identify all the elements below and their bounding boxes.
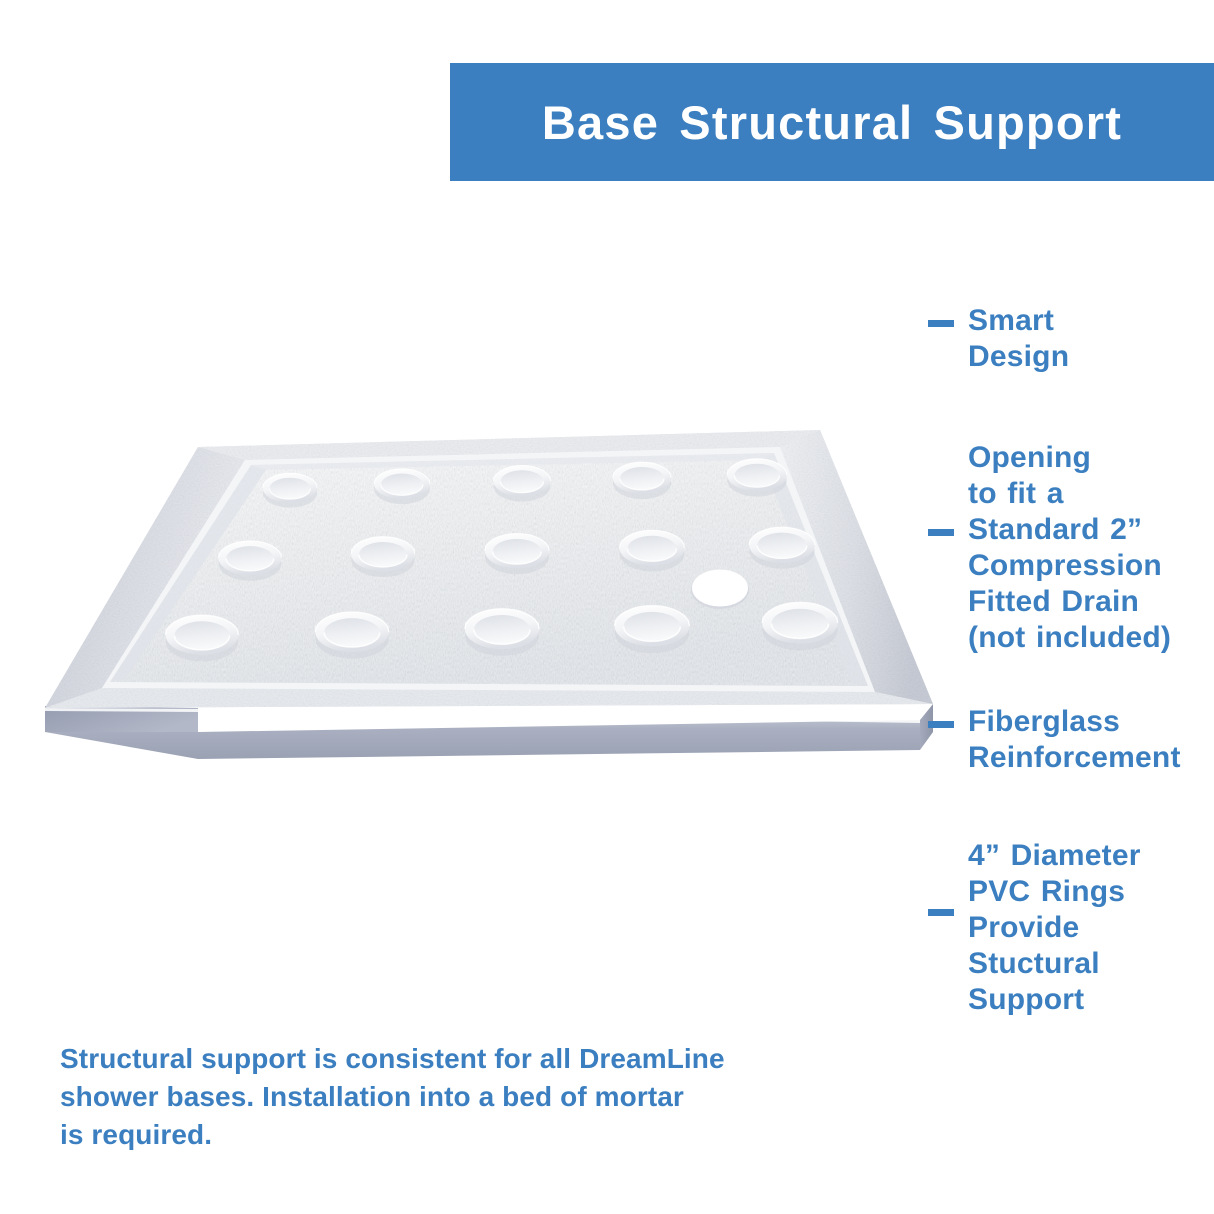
pvc-ring bbox=[615, 606, 690, 653]
drain-opening bbox=[691, 570, 749, 610]
pvc-ring bbox=[374, 469, 429, 504]
pvc-ring bbox=[219, 541, 282, 581]
pvc-ring bbox=[166, 615, 239, 661]
callout-pvc-rings: 4” Diameter PVC Rings Provide Stuctural … bbox=[928, 838, 1141, 1018]
dash-marker-icon bbox=[928, 721, 954, 728]
pvc-ring bbox=[465, 609, 539, 656]
page-title: Base Structural Support bbox=[542, 95, 1122, 150]
callout-drain-opening-label: Opening to fit a Standard 2” Compression… bbox=[968, 440, 1171, 656]
pvc-ring bbox=[613, 462, 671, 499]
pvc-ring bbox=[494, 466, 551, 502]
callout-fiberglass-reinforcement: Fiberglass Reinforcement bbox=[928, 704, 1181, 776]
shower-base-illustration bbox=[30, 420, 935, 810]
poster-root: Base Structural Support bbox=[0, 0, 1214, 1214]
title-banner: Base Structural Support bbox=[450, 63, 1214, 181]
callout-fiberglass-reinforcement-label: Fiberglass Reinforcement bbox=[968, 704, 1181, 776]
pvc-ring bbox=[762, 602, 837, 650]
base-side-walls bbox=[45, 704, 933, 759]
dash-marker-icon bbox=[928, 320, 954, 327]
callout-pvc-rings-label: 4” Diameter PVC Rings Provide Stuctural … bbox=[968, 838, 1141, 1018]
product-image bbox=[30, 420, 935, 810]
dash-marker-icon bbox=[928, 529, 954, 536]
pvc-ring bbox=[749, 527, 814, 569]
pvc-ring bbox=[315, 612, 388, 659]
pvc-ring bbox=[485, 534, 549, 575]
pvc-ring bbox=[263, 473, 317, 507]
callout-drain-opening: Opening to fit a Standard 2” Compression… bbox=[928, 440, 1171, 656]
pvc-ring bbox=[351, 537, 414, 577]
pvc-ring bbox=[620, 530, 685, 571]
callout-smart-design: Smart Design bbox=[928, 303, 1069, 375]
callout-smart-design-label: Smart Design bbox=[968, 303, 1069, 375]
footer-note: Structural support is consistent for all… bbox=[60, 1040, 820, 1154]
pvc-ring bbox=[727, 459, 786, 497]
dash-marker-icon bbox=[928, 909, 954, 916]
